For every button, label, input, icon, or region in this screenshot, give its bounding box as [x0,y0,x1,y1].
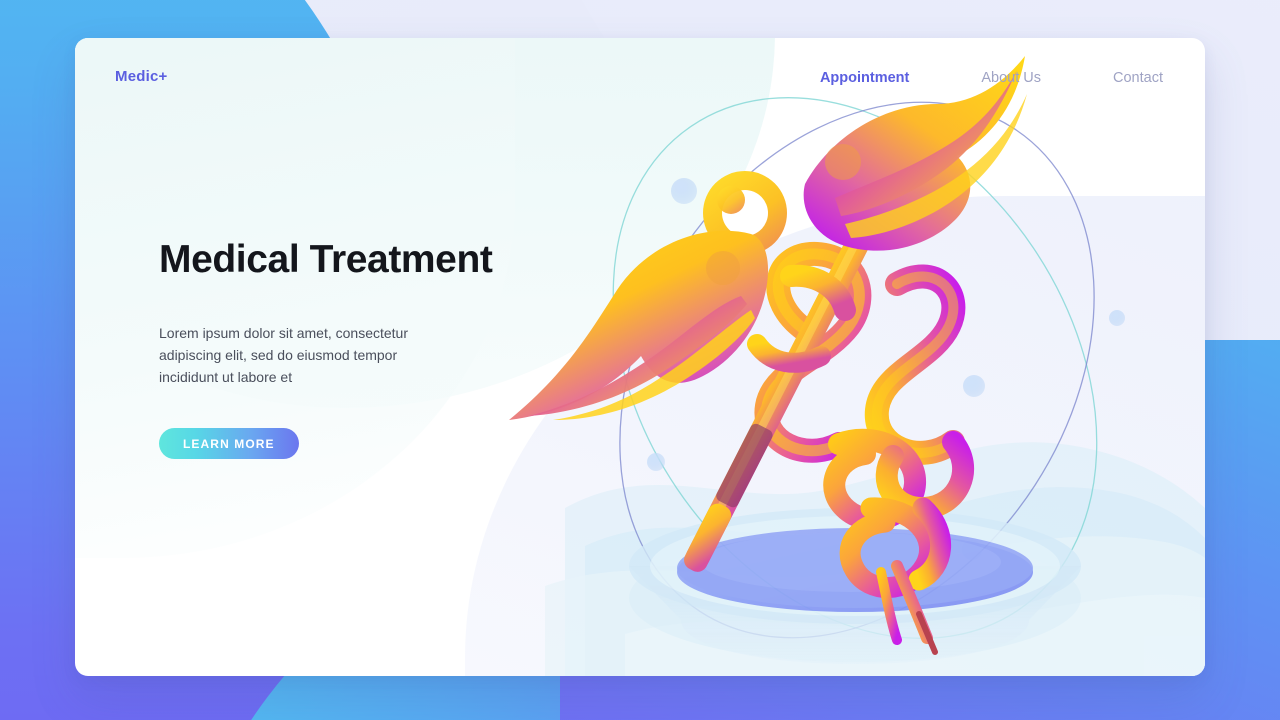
nav-item-contact[interactable]: Contact [1113,66,1163,90]
learn-more-button[interactable]: LEARN MORE [159,428,299,459]
main-navigation: Appointment About Us Contact [748,66,1163,90]
page-title: Medical Treatment [159,238,489,282]
hero-card: Medic+ Appointment About Us Contact Medi… [75,38,1205,676]
nav-item-about-us[interactable]: About Us [981,66,1041,90]
hero-paragraph: Lorem ipsum dolor sit amet, consectetur … [159,322,412,388]
page-root: Medic+ Appointment About Us Contact Medi… [0,0,1280,720]
wing-left [509,231,768,420]
hero-content: Medical Treatment Lorem ipsum dolor sit … [159,238,489,459]
logo[interactable]: Medic+ [115,68,167,85]
caduceus-illustration [505,38,1205,676]
nav-item-appointment[interactable]: Appointment [820,66,909,90]
